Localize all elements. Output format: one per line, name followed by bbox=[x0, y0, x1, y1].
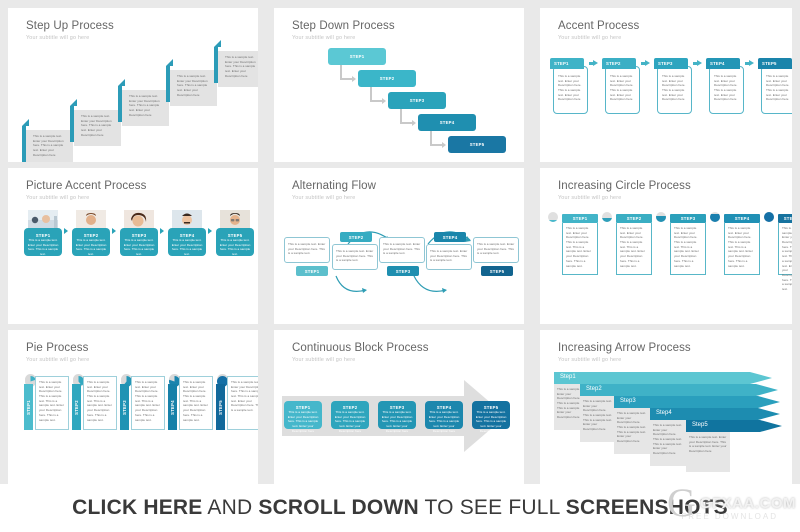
step-text: This is a sample text. Enter your Descri… bbox=[558, 74, 584, 102]
progress-circle-4 bbox=[710, 212, 720, 222]
slide-title: Picture Accent Process bbox=[26, 180, 146, 192]
step-label-bar[interactable]: STEP4 bbox=[168, 384, 177, 430]
step-label: STEP1 bbox=[554, 61, 569, 66]
step-text: This is a sample text. Enter your Descri… bbox=[75, 238, 107, 257]
step-card[interactable]: STEP2 This is a sample text. Enter your … bbox=[72, 228, 110, 256]
corner-triangle-icon bbox=[22, 119, 29, 126]
accent-item[interactable]: This is a sample text. Enter your Descri… bbox=[602, 58, 640, 69]
slide-pie-process[interactable]: Pie Process Your subtitle will go here S… bbox=[8, 330, 258, 484]
circle-step-item[interactable]: STEP4 This is a sample text. Enter your … bbox=[724, 214, 760, 275]
accent-item[interactable]: This is a sample text. Enter your Descri… bbox=[758, 58, 792, 69]
step-label: Step3 bbox=[620, 398, 636, 404]
step-text: This is a sample text. Enter your Descri… bbox=[617, 411, 647, 444]
step-text-box: This is a sample text. Enter your Descri… bbox=[473, 237, 519, 263]
arrow-head-icon bbox=[697, 60, 702, 66]
arrow-shaft bbox=[554, 372, 750, 384]
circle-fill bbox=[764, 212, 774, 222]
step-text: This is a sample text. Enter your Descri… bbox=[33, 134, 69, 157]
arrow-head-icon bbox=[760, 420, 782, 432]
step-header[interactable]: STEP4 bbox=[724, 214, 760, 223]
step-text: This is a sample text. Enter your Descri… bbox=[782, 226, 792, 292]
step-label: STEP1 bbox=[26, 400, 31, 415]
step-label: STEP1 bbox=[305, 269, 320, 274]
arrow-band-4[interactable]: Step4 bbox=[650, 408, 780, 420]
progress-circle-3 bbox=[656, 212, 666, 222]
step-header[interactable]: STEP2 bbox=[616, 214, 652, 223]
cta-banner-text: CLICK HERE AND SCROLL DOWN TO SEE FULL S… bbox=[72, 496, 728, 520]
alternating-flow-diagram: This is a sample text. Enter your Descri… bbox=[274, 204, 524, 318]
step-text: This is a sample text. Enter your Descri… bbox=[129, 94, 165, 117]
progress-circle-1 bbox=[548, 212, 558, 222]
slide-subtitle: Your subtitle will go here bbox=[292, 357, 355, 363]
slide-grid: Step Up Process Your subtitle will go he… bbox=[0, 0, 800, 484]
progress-circle-2 bbox=[602, 212, 612, 222]
accent-item[interactable]: This is a sample text. Enter your Descri… bbox=[706, 58, 744, 69]
circle-fill bbox=[710, 214, 720, 222]
arrow-head-icon bbox=[758, 396, 780, 408]
circle-step-item[interactable]: STEP2 This is a sample text. Enter your … bbox=[616, 214, 652, 275]
arrow-head-icon bbox=[382, 98, 386, 104]
arrow-head-icon bbox=[352, 76, 356, 82]
connector-line bbox=[400, 122, 412, 124]
slide-title: Increasing Circle Process bbox=[558, 180, 691, 192]
connector-line bbox=[430, 144, 442, 146]
step-text: This is a sample text. Enter your Descri… bbox=[334, 410, 366, 433]
step-header-tab[interactable]: STEP2 bbox=[602, 58, 636, 69]
step-header-tab[interactable]: STEP3 bbox=[654, 58, 688, 69]
circle-step-item[interactable]: STEP1 This is a sample text. Enter your … bbox=[562, 214, 598, 275]
step-text: This is a sample text. Enter your Descri… bbox=[689, 435, 727, 454]
slide-subtitle: Your subtitle will go here bbox=[26, 357, 89, 363]
step-label: STEP3 bbox=[396, 269, 411, 274]
slide-increasing-circle-process[interactable]: Increasing Circle Process Your subtitle … bbox=[540, 168, 792, 324]
step-label-badge[interactable]: STEP1 bbox=[296, 266, 328, 276]
step-label: STEP5 bbox=[470, 142, 485, 147]
step-header[interactable]: STEP5 bbox=[778, 214, 792, 223]
step-text: This is a sample text. Enter your Descri… bbox=[87, 380, 113, 422]
arrow-head-icon bbox=[208, 228, 212, 234]
step-text-box: This is a sample text. Enter your Descri… bbox=[26, 130, 73, 162]
pie-diagram: STEP1 This is a sample text. Enter your … bbox=[8, 366, 258, 478]
picture-accent-diagram: STEP1 This is a sample text. Enter your … bbox=[8, 204, 258, 318]
step-label: Step4 bbox=[656, 410, 672, 416]
arrow-head-icon bbox=[758, 408, 780, 420]
arrow-band-3[interactable]: Step3 bbox=[614, 396, 780, 408]
step-card[interactable]: STEP1 This is a sample text. Enter your … bbox=[24, 228, 62, 256]
progress-circle-5 bbox=[764, 212, 774, 222]
step-label-badge[interactable]: STEP2 bbox=[340, 232, 372, 242]
step-down-diagram: STEP1 STEP2 STEP3 STEP4 STEP5 bbox=[274, 44, 524, 156]
step-label: STEP5 bbox=[490, 269, 505, 274]
step-label: Step1 bbox=[560, 374, 576, 380]
circle-fill bbox=[602, 218, 612, 222]
step-text-box: This is a sample text. Enter your Descri… bbox=[605, 66, 640, 114]
arrow-band-5[interactable]: Step5 bbox=[686, 420, 782, 432]
arrow-head-icon bbox=[160, 228, 164, 234]
step-text: This is a sample text. Enter your Descri… bbox=[428, 410, 460, 433]
step-text-box: This is a sample text. Enter your Descri… bbox=[686, 432, 730, 472]
increasing-circle-diagram: STEP1 This is a sample text. Enter your … bbox=[540, 204, 792, 318]
step-text-box: This is a sample text. Enter your Descri… bbox=[614, 408, 650, 454]
step-text-box: This is a sample text. Enter your Descri… bbox=[580, 396, 616, 442]
step-text: This is a sample text. Enter your Descri… bbox=[383, 242, 421, 256]
step-label: STEP4 bbox=[443, 235, 458, 240]
step-text-box: This is a sample text. Enter your Descri… bbox=[761, 66, 792, 114]
corner-triangle-icon bbox=[118, 79, 125, 86]
step-label: STEP4 bbox=[735, 216, 750, 221]
step-label: STEP1 bbox=[573, 216, 588, 221]
step-label-bar[interactable]: STEP1 bbox=[24, 384, 33, 430]
slide-picture-accent-process[interactable]: Picture Accent Process Your subtitle wil… bbox=[8, 168, 258, 324]
step-text-box: This is a sample text. Enter your Descri… bbox=[562, 223, 598, 275]
cta-part-click-here[interactable]: CLICK HERE bbox=[72, 496, 202, 519]
corner-triangle-icon bbox=[166, 59, 173, 66]
step-text: This is a sample text. Enter your Descri… bbox=[27, 238, 59, 257]
slide-subtitle: Your subtitle will go here bbox=[292, 35, 355, 41]
arrow-head-icon bbox=[442, 142, 446, 148]
step-text: This is a sample text. Enter your Descri… bbox=[475, 410, 507, 433]
step-header-tab[interactable]: STEP4 bbox=[706, 58, 740, 69]
step-label-bar[interactable]: STEP5 bbox=[216, 384, 225, 430]
step-label: STEP2 bbox=[627, 216, 642, 221]
step-text-box: This is a sample text. Enter your Descri… bbox=[83, 376, 117, 430]
arrow-band-2[interactable]: Step2 bbox=[580, 384, 778, 396]
step-text: This is a sample text. Enter your Descri… bbox=[336, 249, 374, 263]
step-text-box: This is a sample text. Enter your Descri… bbox=[122, 90, 169, 126]
step-text-box: This is a sample text. Enter your Descri… bbox=[74, 110, 121, 146]
step-label: STEP4 bbox=[710, 61, 725, 66]
step-label: STEP5 bbox=[762, 61, 777, 66]
slide-accent-process[interactable]: Accent Process Your subtitle will go her… bbox=[540, 8, 792, 162]
slide-subtitle: Your subtitle will go here bbox=[558, 35, 621, 41]
step-text: This is a sample text. Enter your Descri… bbox=[135, 380, 161, 422]
step-label: Step5 bbox=[692, 422, 708, 428]
arrow-shaft bbox=[580, 384, 756, 396]
step-card[interactable]: STEP5 This is a sample text. Enter your … bbox=[216, 228, 254, 256]
connector-line bbox=[340, 78, 352, 80]
step-text-box: This is a sample text. Enter your Descri… bbox=[218, 51, 258, 87]
step-text: This is a sample text. Enter your Descri… bbox=[225, 55, 258, 78]
step-card[interactable]: STEP3 This is a sample text. Enter your … bbox=[120, 228, 158, 256]
step-text-box: This is a sample text. Enter your Descri… bbox=[131, 376, 165, 430]
slide-alternating-flow[interactable]: Alternating Flow Your subtitle will go h… bbox=[274, 168, 524, 324]
arrow-head-icon bbox=[412, 120, 416, 126]
step-label-badge[interactable]: STEP4 bbox=[434, 232, 466, 242]
step-text: This is a sample text. Enter your Descri… bbox=[231, 380, 258, 413]
step-text: This is a sample text. Enter your Descri… bbox=[219, 238, 251, 257]
step-text-box: This is a sample text. Enter your Descri… bbox=[650, 420, 686, 466]
circle-step-item[interactable]: STEP5 This is a sample text. Enter your … bbox=[778, 214, 792, 275]
slide-step-down-process[interactable]: Step Down Process Your subtitle will go … bbox=[274, 8, 524, 162]
slide-title: Accent Process bbox=[558, 20, 639, 32]
step-text: This is a sample text. Enter your Descri… bbox=[287, 410, 319, 433]
connector-line bbox=[370, 100, 382, 102]
slide-subtitle: Your subtitle will go here bbox=[292, 195, 355, 201]
cta-part-to-see-full: TO SEE FULL bbox=[419, 496, 566, 519]
step-text: This is a sample text. Enter your Descri… bbox=[728, 226, 756, 268]
step-label: STEP4 bbox=[170, 400, 175, 415]
slide-subtitle: Your subtitle will go here bbox=[26, 35, 89, 41]
step-text: This is a sample text. Enter your Descri… bbox=[566, 226, 594, 268]
step-text-box: This is a sample text. Enter your Descri… bbox=[657, 66, 692, 114]
step-text: This is a sample text. Enter your Descri… bbox=[583, 399, 613, 432]
step-block[interactable]: STEP1 This is a sample text. Enter your … bbox=[284, 401, 322, 429]
step-text: This is a sample text. Enter your Descri… bbox=[171, 238, 203, 257]
step-text: This is a sample text. Enter your Descri… bbox=[123, 238, 155, 257]
step-text: This is a sample text. Enter your Descri… bbox=[714, 74, 740, 102]
step-label: STEP1 bbox=[350, 54, 365, 59]
circle-step-item[interactable]: STEP3 This is a sample text. Enter your … bbox=[670, 214, 706, 275]
slide-title: Step Down Process bbox=[292, 20, 395, 32]
step-text: This is a sample text. Enter your Descri… bbox=[653, 423, 683, 456]
slide-title: Alternating Flow bbox=[292, 180, 376, 192]
step-text: This is a sample text. Enter your Descri… bbox=[477, 242, 515, 256]
step-label-bar[interactable]: STEP3 bbox=[120, 384, 129, 430]
gfxaa-logo-icon: G bbox=[667, 488, 696, 518]
step-text: This is a sample text. Enter your Descri… bbox=[177, 74, 213, 97]
step-header-tab[interactable]: STEP5 bbox=[758, 58, 792, 69]
step-text: This is a sample text. Enter your Descri… bbox=[674, 226, 702, 268]
slide-increasing-arrow-process[interactable]: Increasing Arrow Process Your subtitle w… bbox=[540, 330, 792, 484]
slide-continuous-block-process[interactable]: Continuous Block Process Your subtitle w… bbox=[274, 330, 524, 484]
step-block[interactable]: STEP3 bbox=[388, 92, 446, 109]
step-label: STEP4 bbox=[440, 120, 455, 125]
step-text: This is a sample text. Enter your Descri… bbox=[662, 74, 688, 102]
accent-item[interactable]: This is a sample text. Enter your Descri… bbox=[654, 58, 692, 69]
step-label: STEP3 bbox=[122, 400, 127, 415]
step-text: This is a sample text. Enter your Descri… bbox=[39, 380, 65, 422]
step-text-box: This is a sample text. Enter your Descri… bbox=[724, 223, 760, 275]
slide-title: Step Up Process bbox=[26, 20, 114, 32]
step-header-tab[interactable]: STEP1 bbox=[550, 58, 584, 69]
cta-part-scroll-down[interactable]: SCROLL DOWN bbox=[258, 496, 418, 519]
step-label-badge[interactable]: STEP5 bbox=[481, 266, 513, 276]
step-header[interactable]: STEP1 bbox=[562, 214, 598, 223]
step-label: STEP3 bbox=[681, 216, 696, 221]
slide-title: Increasing Arrow Process bbox=[558, 342, 691, 354]
step-card[interactable]: STEP4 This is a sample text. Enter your … bbox=[168, 228, 206, 256]
step-block[interactable]: STEP2 bbox=[358, 70, 416, 87]
step-block[interactable]: STEP1 bbox=[328, 48, 386, 65]
step-text-box: This is a sample text. Enter your Descri… bbox=[284, 237, 330, 263]
cta-part-and: AND bbox=[203, 496, 259, 519]
step-text-box: This is a sample text. Enter your Descri… bbox=[179, 376, 213, 430]
increasing-arrow-diagram: Step1 This is a sample text. Enter your … bbox=[540, 366, 792, 478]
slide-subtitle: Your subtitle will go here bbox=[558, 357, 621, 363]
step-up-diagram: This is a sample text. Enter your Descri… bbox=[8, 44, 258, 156]
step-block[interactable]: STEP3 This is a sample text. Enter your … bbox=[378, 401, 416, 429]
step-label: STEP3 bbox=[410, 98, 425, 103]
step-text-box: This is a sample text. Enter your Descri… bbox=[332, 244, 378, 270]
step-block[interactable]: STEP5 bbox=[448, 136, 506, 153]
step-label: STEP2 bbox=[349, 235, 364, 240]
circle-fill bbox=[656, 216, 666, 222]
step-label: STEP5 bbox=[218, 400, 223, 415]
arrow-head-icon bbox=[593, 60, 598, 66]
step-label-badge[interactable]: STEP3 bbox=[387, 266, 419, 276]
step-text-box: This is a sample text. Enter your Descri… bbox=[35, 376, 69, 430]
step-text-box: This is a sample text. Enter your Descri… bbox=[670, 223, 706, 275]
step-text: This is a sample text. Enter your Descri… bbox=[381, 410, 413, 433]
accent-item[interactable]: This is a sample text. Enter your Descri… bbox=[550, 58, 588, 69]
step-text: This is a sample text. Enter your Descri… bbox=[610, 74, 636, 102]
step-label: STEP2 bbox=[380, 76, 395, 81]
slide-subtitle: Your subtitle will go here bbox=[26, 195, 89, 201]
arrow-head-icon bbox=[64, 228, 68, 234]
step-text: This is a sample text. Enter your Descri… bbox=[620, 226, 648, 268]
step-text-box: This is a sample text. Enter your Descri… bbox=[170, 70, 217, 106]
step-text: This is a sample text. Enter your Descri… bbox=[766, 74, 792, 102]
step-text-box: This is a sample text. Enter your Descri… bbox=[553, 66, 588, 114]
slide-step-up-process[interactable]: Step Up Process Your subtitle will go he… bbox=[8, 8, 258, 162]
slide-title: Continuous Block Process bbox=[292, 342, 429, 354]
step-text-box: This is a sample text. Enter your Descri… bbox=[778, 223, 792, 275]
corner-triangle-icon bbox=[214, 40, 221, 47]
arrow-head-icon bbox=[756, 384, 778, 396]
step-label: Step2 bbox=[586, 386, 602, 392]
step-text-box: This is a sample text. Enter your Descri… bbox=[616, 223, 652, 275]
circle-fill bbox=[548, 220, 558, 222]
step-text: This is a sample text. Enter your Descri… bbox=[288, 242, 326, 256]
step-text: This is a sample text. Enter your Descri… bbox=[81, 114, 117, 137]
step-text: This is a sample text. Enter your Descri… bbox=[430, 249, 468, 263]
step-block[interactable]: STEP5 This is a sample text. Enter your … bbox=[472, 401, 510, 429]
step-block[interactable]: STEP4 This is a sample text. Enter your … bbox=[425, 401, 463, 429]
step-label: STEP2 bbox=[74, 400, 79, 415]
step-text-box: This is a sample text. Enter your Descri… bbox=[709, 66, 744, 114]
arrow-head-icon bbox=[749, 60, 754, 66]
watermark-text: GFXAA.COM bbox=[700, 495, 796, 512]
step-label-bar[interactable]: STEP2 bbox=[72, 384, 81, 430]
arrow-band-1[interactable]: Step1 bbox=[554, 372, 772, 384]
slide-title: Pie Process bbox=[26, 342, 88, 354]
watermark: G GFXAA.COM bbox=[667, 488, 796, 518]
step-block[interactable]: STEP4 bbox=[418, 114, 476, 131]
step-text-box: This is a sample text. Enter your Descri… bbox=[227, 376, 258, 430]
step-label: STEP5 bbox=[784, 216, 792, 221]
corner-triangle-icon bbox=[70, 99, 77, 106]
arrow-head-icon bbox=[112, 228, 116, 234]
step-label: STEP3 bbox=[658, 61, 673, 66]
step-text: This is a sample text. Enter your Descri… bbox=[183, 380, 209, 422]
step-block[interactable]: STEP2 This is a sample text. Enter your … bbox=[331, 401, 369, 429]
slide-subtitle: Your subtitle will go here bbox=[558, 195, 621, 201]
step-text-box: This is a sample text. Enter your Descri… bbox=[426, 244, 472, 270]
step-label: STEP2 bbox=[606, 61, 621, 66]
step-header[interactable]: STEP3 bbox=[670, 214, 706, 223]
accent-diagram: This is a sample text. Enter your Descri… bbox=[540, 44, 792, 156]
step-text-box: This is a sample text. Enter your Descri… bbox=[379, 237, 425, 263]
arrow-head-icon bbox=[750, 372, 772, 384]
continuous-block-diagram: STEP1 This is a sample text. Enter your … bbox=[274, 366, 524, 478]
arrow-head-icon bbox=[645, 60, 650, 66]
